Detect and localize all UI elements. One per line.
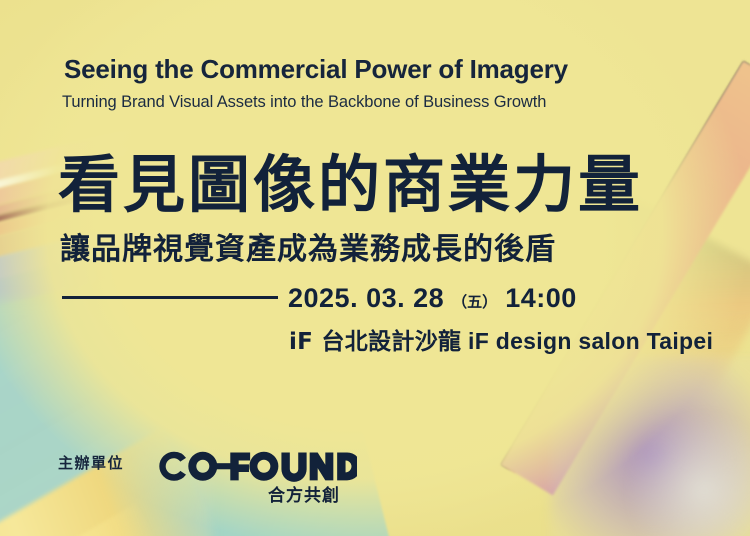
english-subtitle: Turning Brand Visual Assets into the Bac… — [62, 93, 546, 112]
cofound-logo-subtext: 合方共創 — [268, 481, 340, 506]
event-weekday: （五） — [452, 294, 497, 311]
organizer-label: 主辦單位 — [58, 452, 124, 473]
page-subtitle: 讓品牌視覺資產成為業務成長的後盾 — [60, 224, 556, 268]
event-date: 2025. 03. 28 — [288, 283, 444, 313]
event-poster: Seeing the Commercial Power of Imagery T… — [0, 0, 750, 536]
divider-rule — [62, 296, 278, 299]
english-title: Seeing the Commercial Power of Imagery — [64, 54, 568, 85]
poster-content: Seeing the Commercial Power of Imagery T… — [0, 0, 750, 536]
event-time: 14:00 — [505, 283, 577, 313]
event-venue-en: iF design salon Taipei — [468, 328, 713, 354]
event-venue: iF 台北設計沙龍 iF design salon Taipei — [289, 322, 713, 356]
event-venue-zh: iF 台北設計沙龍 — [289, 329, 461, 355]
event-datetime: 2025. 03. 28 （五） 14:00 — [288, 283, 577, 314]
page-title: 看見圖像的商業力量 — [58, 134, 643, 224]
